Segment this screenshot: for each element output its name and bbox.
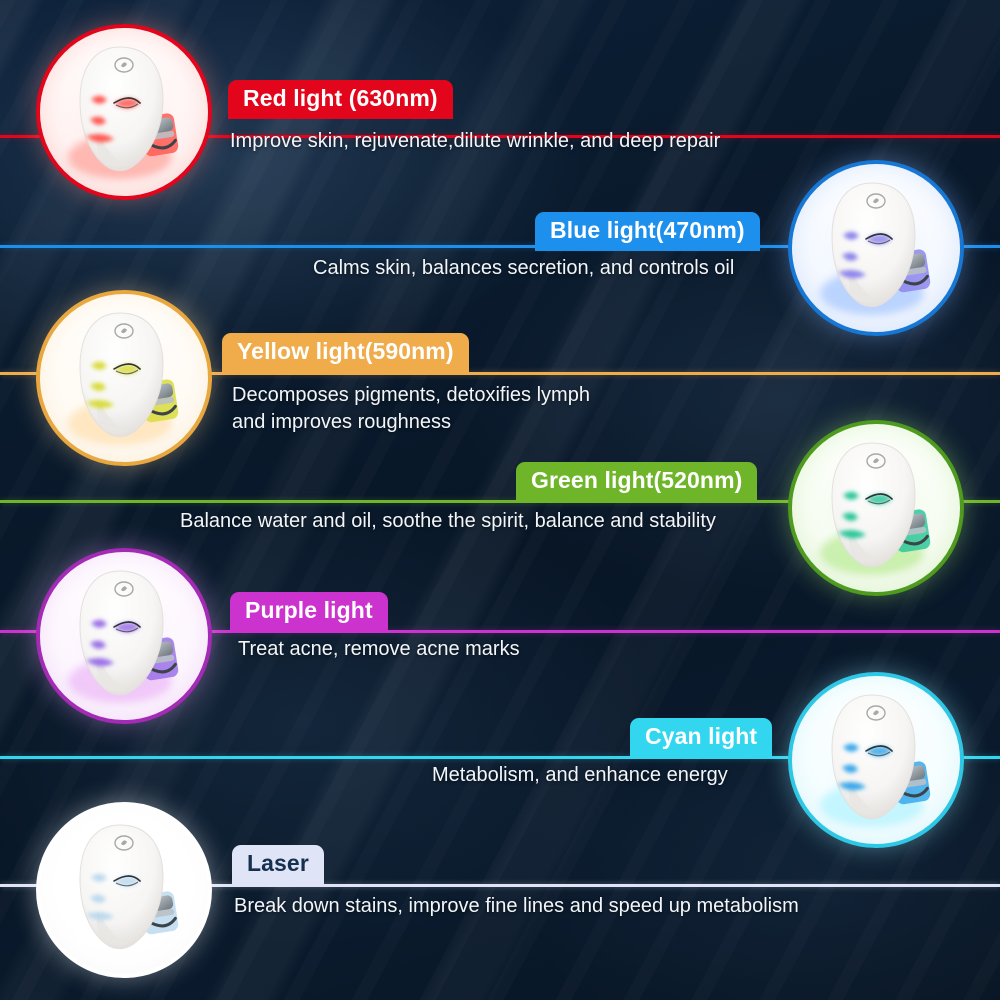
- mask-circle-red[interactable]: [36, 24, 212, 200]
- description-blue: Calms skin, balances secretion, and cont…: [313, 255, 734, 282]
- led-face-mask-green: [810, 433, 942, 583]
- description-purple: Treat acne, remove acne marks: [238, 636, 520, 663]
- mask-circle-purple[interactable]: [36, 548, 212, 724]
- mask-circle-yellow[interactable]: [36, 290, 212, 466]
- description-cyan: Metabolism, and enhance energy: [432, 762, 728, 789]
- led-face-mask-laser: [58, 815, 190, 965]
- description-red: Improve skin, rejuvenate,dilute wrinkle,…: [230, 128, 720, 155]
- label-pill-purple: Purple light: [230, 592, 388, 631]
- label-pill-laser: Laser: [232, 845, 324, 884]
- label-pill-blue: Blue light(470nm): [535, 212, 760, 251]
- label-pill-green: Green light(520nm): [516, 462, 757, 501]
- led-face-mask-yellow: [58, 303, 190, 453]
- mask-circle-cyan[interactable]: [788, 672, 964, 848]
- led-face-mask-red: [58, 37, 190, 187]
- led-face-mask-purple: [58, 561, 190, 711]
- mask-circle-laser[interactable]: [36, 802, 212, 978]
- description-laser: Break down stains, improve fine lines an…: [234, 893, 799, 920]
- led-face-mask-blue: [810, 173, 942, 323]
- mask-circle-green[interactable]: [788, 420, 964, 596]
- label-pill-yellow: Yellow light(590nm): [222, 333, 469, 372]
- description-yellow: Decomposes pigments, detoxifies lymph an…: [232, 382, 590, 436]
- description-green: Balance water and oil, soothe the spirit…: [180, 508, 716, 535]
- label-pill-cyan: Cyan light: [630, 718, 772, 757]
- mask-circle-blue[interactable]: [788, 160, 964, 336]
- label-pill-red: Red light (630nm): [228, 80, 453, 119]
- infographic-board: Red light (630nm)Improve skin, rejuvenat…: [0, 0, 1000, 1000]
- led-face-mask-cyan: [810, 685, 942, 835]
